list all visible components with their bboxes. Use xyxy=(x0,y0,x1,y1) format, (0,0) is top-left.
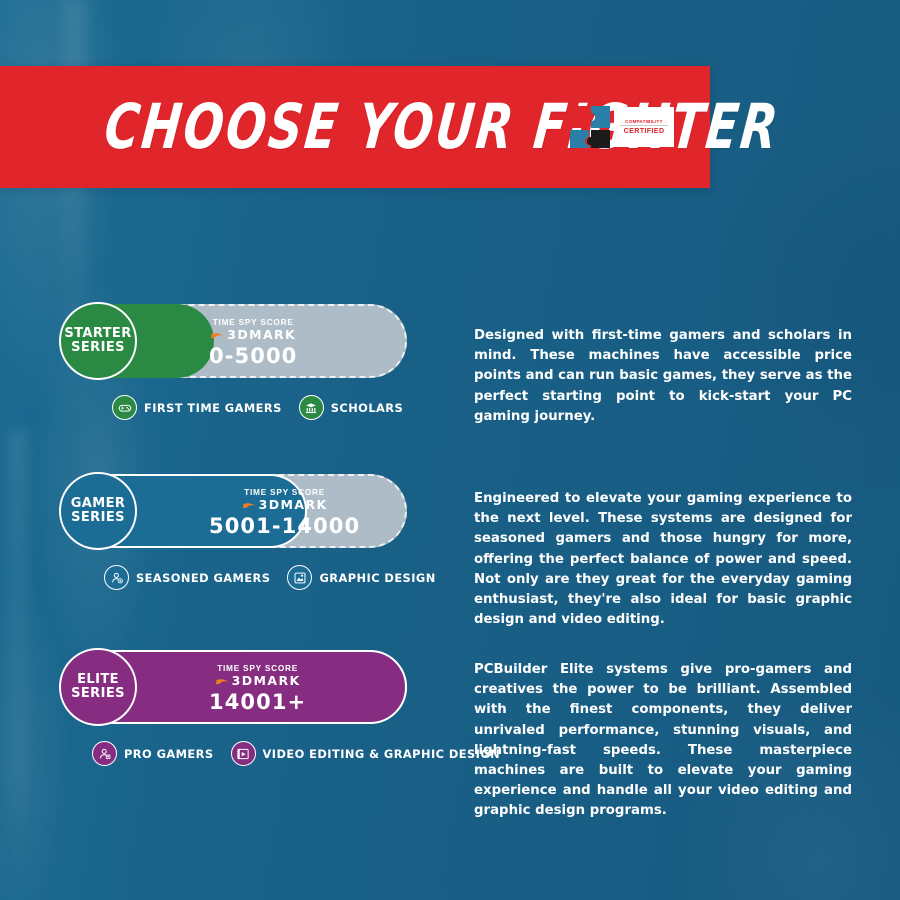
series-badge-line-2: SERIES xyxy=(71,511,125,525)
series-badge-line-1: GAMER xyxy=(71,497,126,511)
score-label: TIME SPY SCORE xyxy=(244,488,325,496)
score-block: TIME SPY SCORE 3DMARK 0-5000 xyxy=(209,318,297,367)
tag-list-gamer: SEASONED GAMERS GRAPHIC DESIGN xyxy=(104,565,436,590)
brand-mark: 3DMARK xyxy=(259,499,328,512)
score-value: 14001+ xyxy=(209,692,306,713)
page-title: CHOOSE YOUR FIGHTER xyxy=(101,91,783,164)
flame-icon xyxy=(210,331,225,341)
tag-graphic-design: GRAPHIC DESIGN xyxy=(287,565,435,590)
puzzle-icon xyxy=(568,104,612,150)
tag-label: SEASONED GAMERS xyxy=(136,571,270,585)
brand-mark-row: 3DMARK xyxy=(215,675,301,688)
tag-label: SCHOLARS xyxy=(331,401,403,415)
series-badge-elite: ELITE SERIES xyxy=(59,648,137,726)
tag-label: PRO GAMERS xyxy=(124,747,214,761)
brand-mark-row: 3DMARK xyxy=(210,329,296,342)
background-streak xyxy=(8,430,28,900)
score-pill-elite: TIME SPY SCORE 3DMARK 14001+ ELITE SERIE… xyxy=(62,650,407,724)
series-badge-line-2: SERIES xyxy=(71,687,125,701)
certified-text-block: COMPATIBILITY CERTIFIED xyxy=(614,107,674,147)
brand-mark-row: 3DMARK xyxy=(242,499,328,512)
seasoned-gamer-icon xyxy=(104,565,129,590)
tag-video-editing: VIDEO EDITING & GRAPHIC DESIGN xyxy=(231,741,501,766)
tag-list-elite: PRO GAMERS VIDEO EDITING & GRAPHIC DESIG… xyxy=(92,741,500,766)
compatibility-certified-badge: COMPATIBILITY CERTIFIED xyxy=(568,104,674,150)
score-pill-starter: TIME SPY SCORE 3DMARK 0-5000 STARTER SER… xyxy=(62,304,407,378)
pro-gamer-icon xyxy=(92,741,117,766)
brand-mark: 3DMARK xyxy=(232,675,301,688)
seasoned-gamer-glyph xyxy=(110,571,124,585)
scholars-glyph xyxy=(304,401,318,415)
tag-scholars: SCHOLARS xyxy=(299,395,403,420)
graphic-design-icon xyxy=(287,565,312,590)
video-editing-icon xyxy=(231,741,256,766)
badge-line-2: CERTIFIED xyxy=(624,127,665,134)
score-value: 5001-14000 xyxy=(209,516,360,537)
score-value: 0-5000 xyxy=(209,346,297,367)
tag-seasoned-gamers: SEASONED GAMERS xyxy=(104,565,270,590)
tag-label: VIDEO EDITING & GRAPHIC DESIGN xyxy=(263,747,501,761)
scholars-icon xyxy=(299,395,324,420)
tag-list-starter: FIRST TIME GAMERS SCHOLARS xyxy=(112,395,403,420)
tier-description-starter: Designed with first-time gamers and scho… xyxy=(474,326,852,427)
gamepad-glyph xyxy=(118,401,132,415)
score-label: TIME SPY SCORE xyxy=(213,318,294,326)
brand-mark: 3DMARK xyxy=(227,329,296,342)
gamepad-icon xyxy=(112,395,137,420)
series-badge-gamer: GAMER SERIES xyxy=(59,472,137,550)
tier-description-elite: PCBuilder Elite systems give pro-gamers … xyxy=(474,660,852,822)
tag-label: GRAPHIC DESIGN xyxy=(319,571,435,585)
series-badge-starter: STARTER SERIES xyxy=(59,302,137,380)
tag-label: FIRST TIME GAMERS xyxy=(144,401,282,415)
video-editing-glyph xyxy=(236,747,250,761)
score-block: TIME SPY SCORE 3DMARK 14001+ xyxy=(209,664,306,713)
pro-gamer-glyph xyxy=(98,747,112,761)
score-block: TIME SPY SCORE 3DMARK 5001-14000 xyxy=(209,488,360,537)
graphic-design-glyph xyxy=(293,571,307,585)
flame-icon xyxy=(242,501,257,511)
series-badge-line-2: SERIES xyxy=(71,341,125,355)
score-pill-gamer: TIME SPY SCORE 3DMARK 5001-14000 GAMER S… xyxy=(62,474,407,548)
tag-first-time-gamers: FIRST TIME GAMERS xyxy=(112,395,282,420)
badge-line-1: COMPATIBILITY xyxy=(625,120,663,125)
series-badge-line-1: STARTER xyxy=(64,327,131,341)
tier-description-gamer: Engineered to elevate your gaming experi… xyxy=(474,489,852,630)
series-badge-line-1: ELITE xyxy=(77,673,119,687)
flame-icon xyxy=(215,677,230,687)
score-label: TIME SPY SCORE xyxy=(217,664,298,672)
tag-pro-gamers: PRO GAMERS xyxy=(92,741,214,766)
